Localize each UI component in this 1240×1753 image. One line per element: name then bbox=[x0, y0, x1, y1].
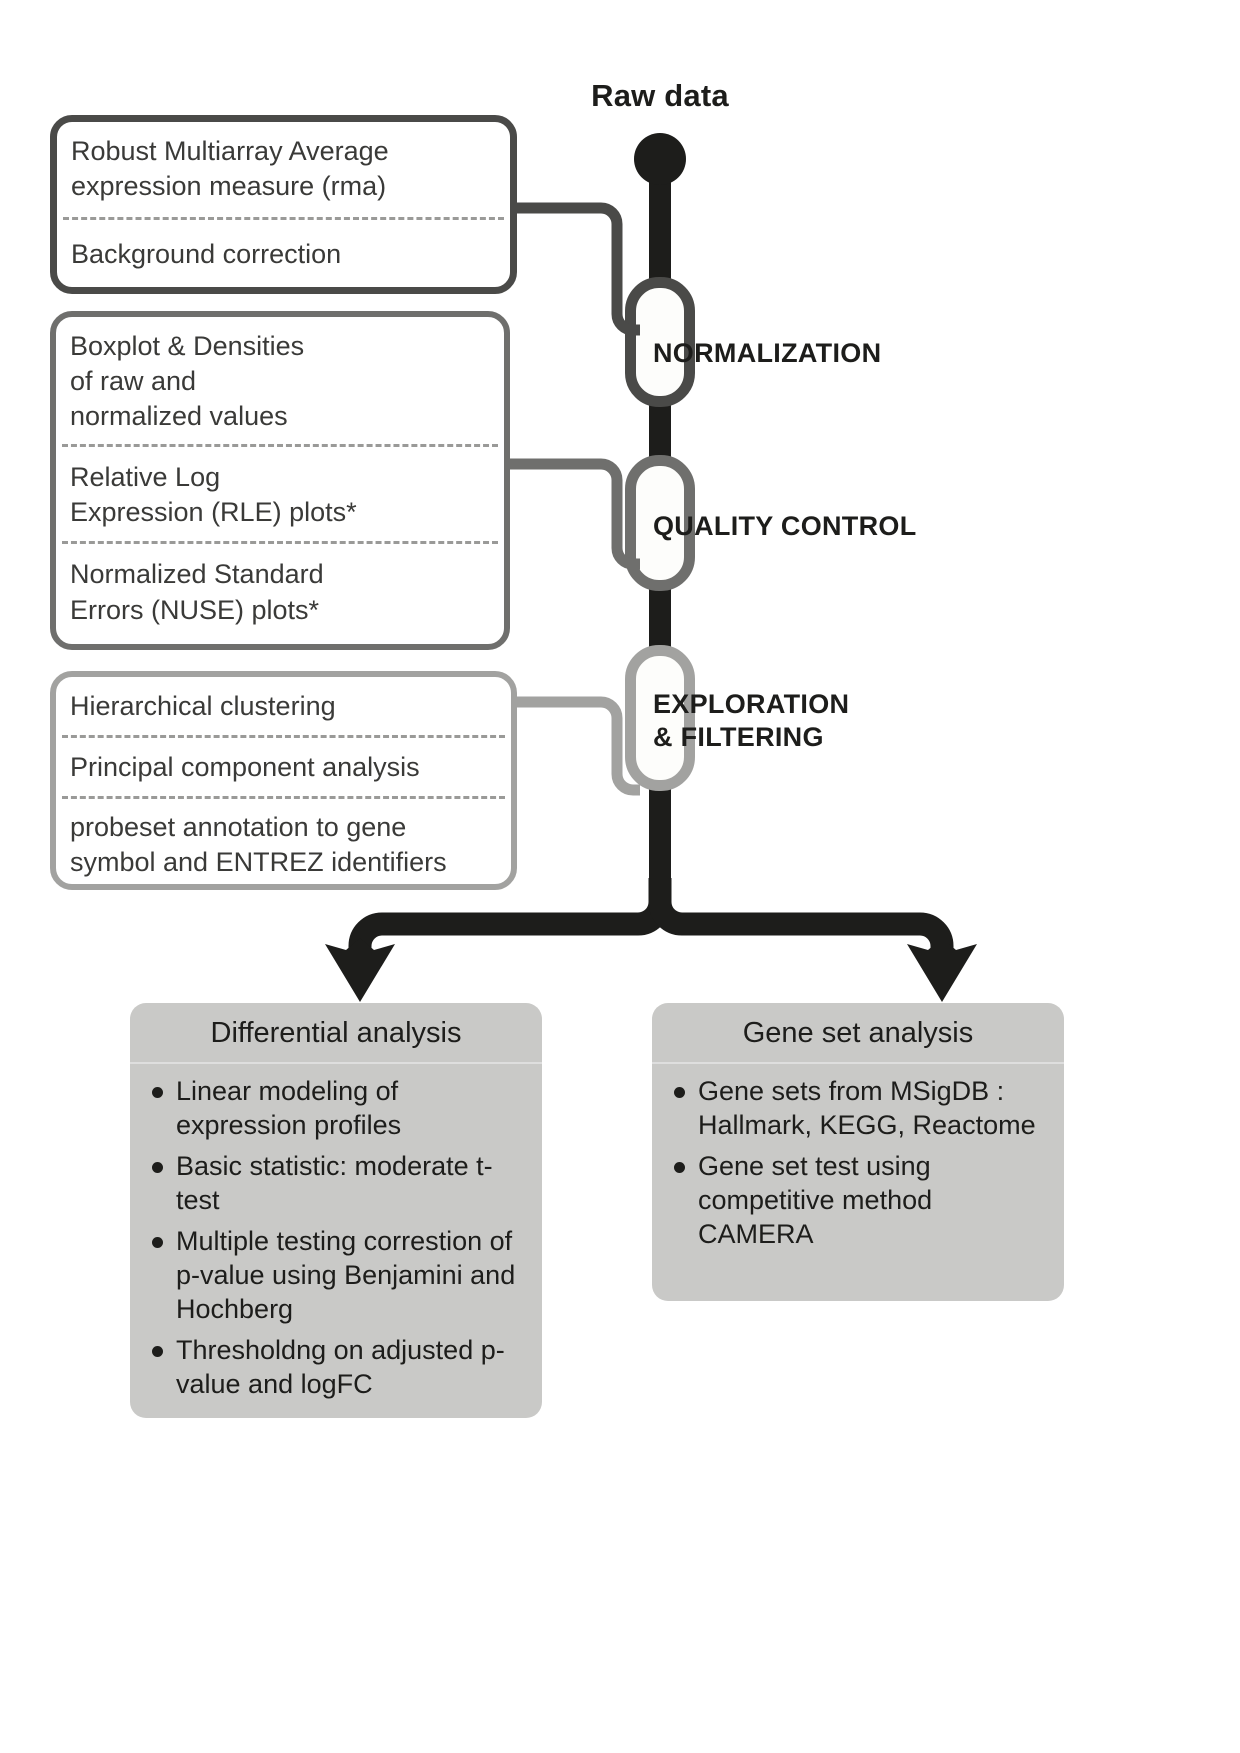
output-title: Differential analysis bbox=[130, 1003, 542, 1064]
list-item: Multiple testing correstion of p-value u… bbox=[150, 1224, 526, 1326]
step-item: Boxplot & Densities of raw and normalize… bbox=[56, 317, 504, 434]
connector-quality-control bbox=[505, 452, 640, 574]
step-item: Background correction bbox=[57, 220, 510, 272]
raw-data-node bbox=[634, 133, 686, 185]
step-box-normalization: Robust Multiarray Average expression mea… bbox=[50, 115, 517, 294]
output-bullet-list: Gene sets from MSigDB : Hallmark, KEGG, … bbox=[652, 1064, 1064, 1268]
stage-label-exploration-line2: & FILTERING bbox=[653, 721, 849, 754]
list-item: Linear modeling of expression profiles bbox=[150, 1074, 526, 1142]
step-box-quality-control: Boxplot & Densities of raw and normalize… bbox=[50, 311, 510, 650]
step-item: Hierarchical clustering bbox=[56, 677, 511, 724]
output-box-differential-analysis: Differential analysis Linear modeling of… bbox=[130, 1003, 542, 1418]
stage-label-exploration: EXPLORATION & FILTERING bbox=[653, 688, 849, 754]
step-item: Principal component analysis bbox=[56, 738, 511, 785]
connector-exploration bbox=[505, 690, 640, 802]
output-box-gene-set-analysis: Gene set analysis Gene sets from MSigDB … bbox=[652, 1003, 1064, 1301]
step-box-exploration: Hierarchical clustering Principal compon… bbox=[50, 671, 517, 890]
step-item: Normalized Standard Errors (NUSE) plots* bbox=[56, 544, 504, 627]
page-title: Raw data bbox=[520, 78, 800, 114]
stage-label-normalization: NORMALIZATION bbox=[653, 337, 881, 370]
output-bullet-list: Linear modeling of expression profiles B… bbox=[130, 1064, 542, 1418]
step-item: Relative Log Expression (RLE) plots* bbox=[56, 447, 504, 530]
list-item: Gene set test using competitive method C… bbox=[672, 1149, 1048, 1251]
stage-label-quality-control: QUALITY CONTROL bbox=[653, 510, 917, 543]
list-item: Thresholdng on adjusted p-value and logF… bbox=[150, 1333, 526, 1401]
connector-normalization bbox=[505, 196, 640, 342]
step-item: Robust Multiarray Average expression mea… bbox=[57, 122, 510, 204]
list-item: Gene sets from MSigDB : Hallmark, KEGG, … bbox=[672, 1074, 1048, 1142]
output-title: Gene set analysis bbox=[652, 1003, 1064, 1064]
workflow-diagram: Raw data NORMALIZATION QUALITY CONTROL E… bbox=[0, 0, 1240, 1753]
stage-label-exploration-line1: EXPLORATION bbox=[653, 688, 849, 721]
list-item: Basic statistic: moderate t-test bbox=[150, 1149, 526, 1217]
